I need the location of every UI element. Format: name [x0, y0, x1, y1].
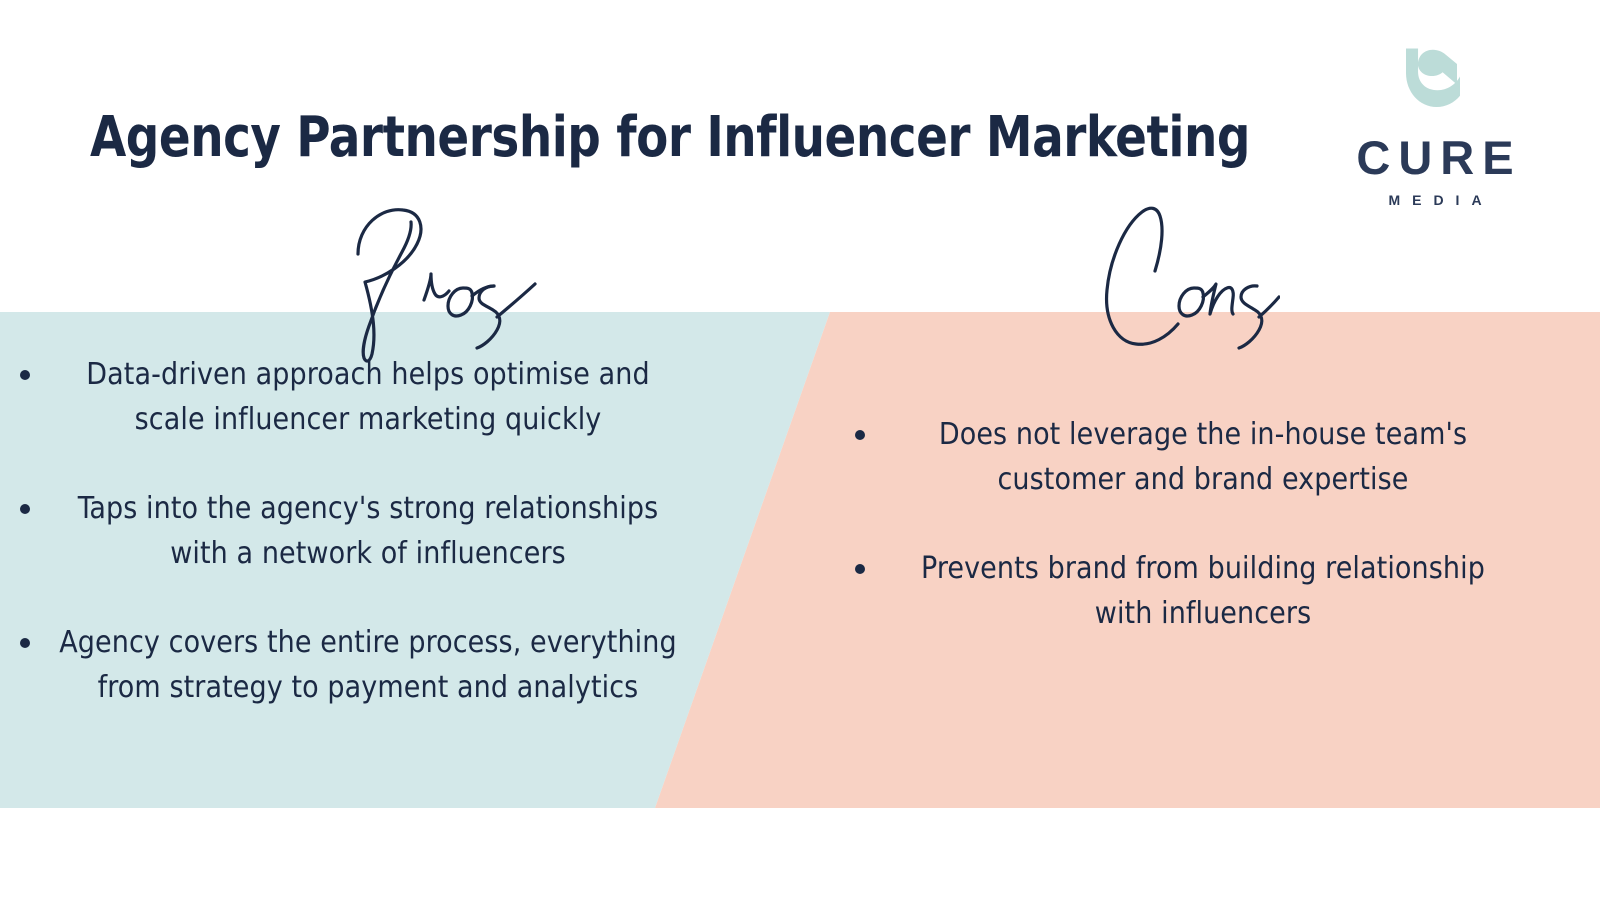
list-item: Prevents brand from building relationshi…	[855, 546, 1515, 636]
logo-wordmark: CURE	[1320, 130, 1550, 185]
list-item: Data-driven approach helps optimise and …	[20, 352, 680, 442]
list-item: Agency covers the entire process, everyt…	[20, 620, 680, 710]
bullet-dot-icon	[20, 638, 30, 648]
list-item: Does not leverage the in-house team's cu…	[855, 412, 1515, 502]
bullet-dot-icon	[20, 504, 30, 514]
bullet-dot-icon	[20, 370, 30, 380]
bullet-text: Prevents brand from building relationshi…	[891, 546, 1515, 636]
logo-sub-wordmark: MEDIA	[1320, 192, 1550, 208]
list-item: Taps into the agency's strong relationsh…	[20, 486, 680, 576]
page-title: Agency Partnership for Influencer Market…	[90, 105, 1250, 171]
cons-bullet-list: Does not leverage the in-house team's cu…	[855, 412, 1515, 680]
bullet-text: Data-driven approach helps optimise and …	[56, 352, 680, 442]
bullet-text: Taps into the agency's strong relationsh…	[56, 486, 680, 576]
cure-c-mark-icon	[1400, 34, 1470, 112]
slide-root: Agency Partnership for Influencer Market…	[0, 0, 1600, 900]
bullet-text: Does not leverage the in-house team's cu…	[891, 412, 1515, 502]
pros-bullet-list: Data-driven approach helps optimise and …	[20, 352, 680, 754]
bullet-dot-icon	[855, 430, 865, 440]
bullet-text: Agency covers the entire process, everyt…	[56, 620, 680, 710]
bullet-dot-icon	[855, 564, 865, 574]
cure-media-logo: CURE MEDIA	[1320, 34, 1550, 214]
